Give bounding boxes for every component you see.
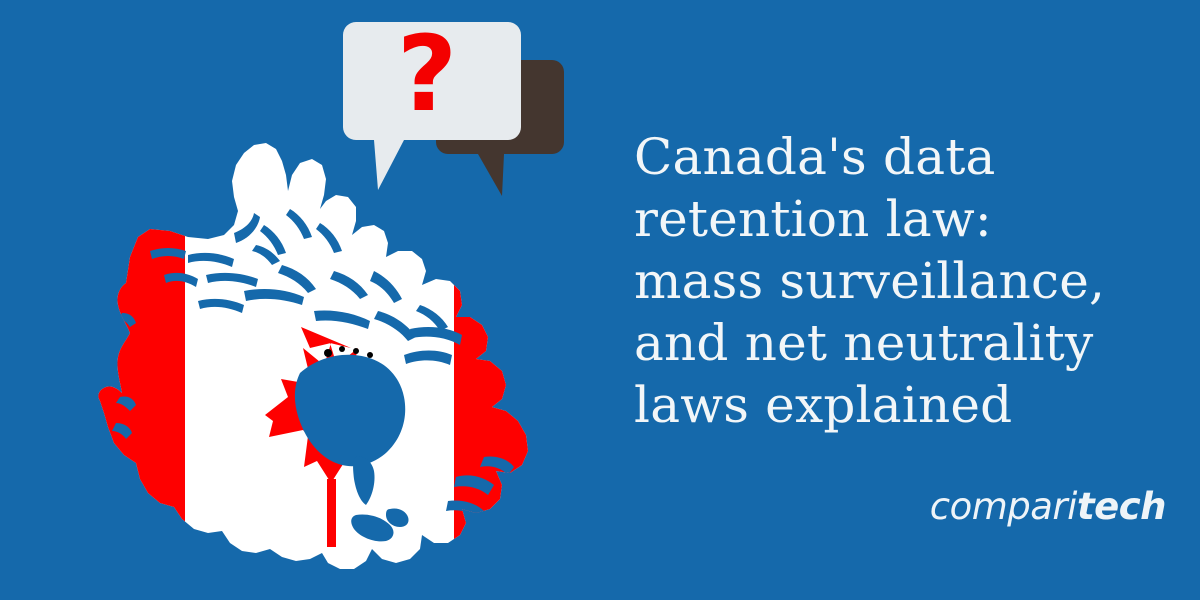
headline-line-5: laws explained — [634, 374, 1174, 436]
maple-leaf-stem — [327, 479, 336, 547]
article-hero-banner: ? Canada's data retention law: mass surv… — [0, 0, 1200, 600]
question-mark-icon: ? — [372, 14, 482, 134]
logo-text-tech: tech — [1077, 484, 1166, 530]
logo-text-compari: compari — [930, 484, 1077, 530]
headline-line-4: and net neutrality — [634, 312, 1174, 374]
headline-line-3: mass surveillance, — [634, 250, 1174, 312]
headline-line-1: Canada's data — [634, 126, 1174, 188]
comparitech-logo: comparitech — [1001, 484, 1166, 530]
flag-left-red-band — [38, 105, 185, 595]
headline-line-2: retention law: — [634, 188, 1174, 250]
page-title: Canada's data retention law: mass survei… — [634, 126, 1174, 436]
